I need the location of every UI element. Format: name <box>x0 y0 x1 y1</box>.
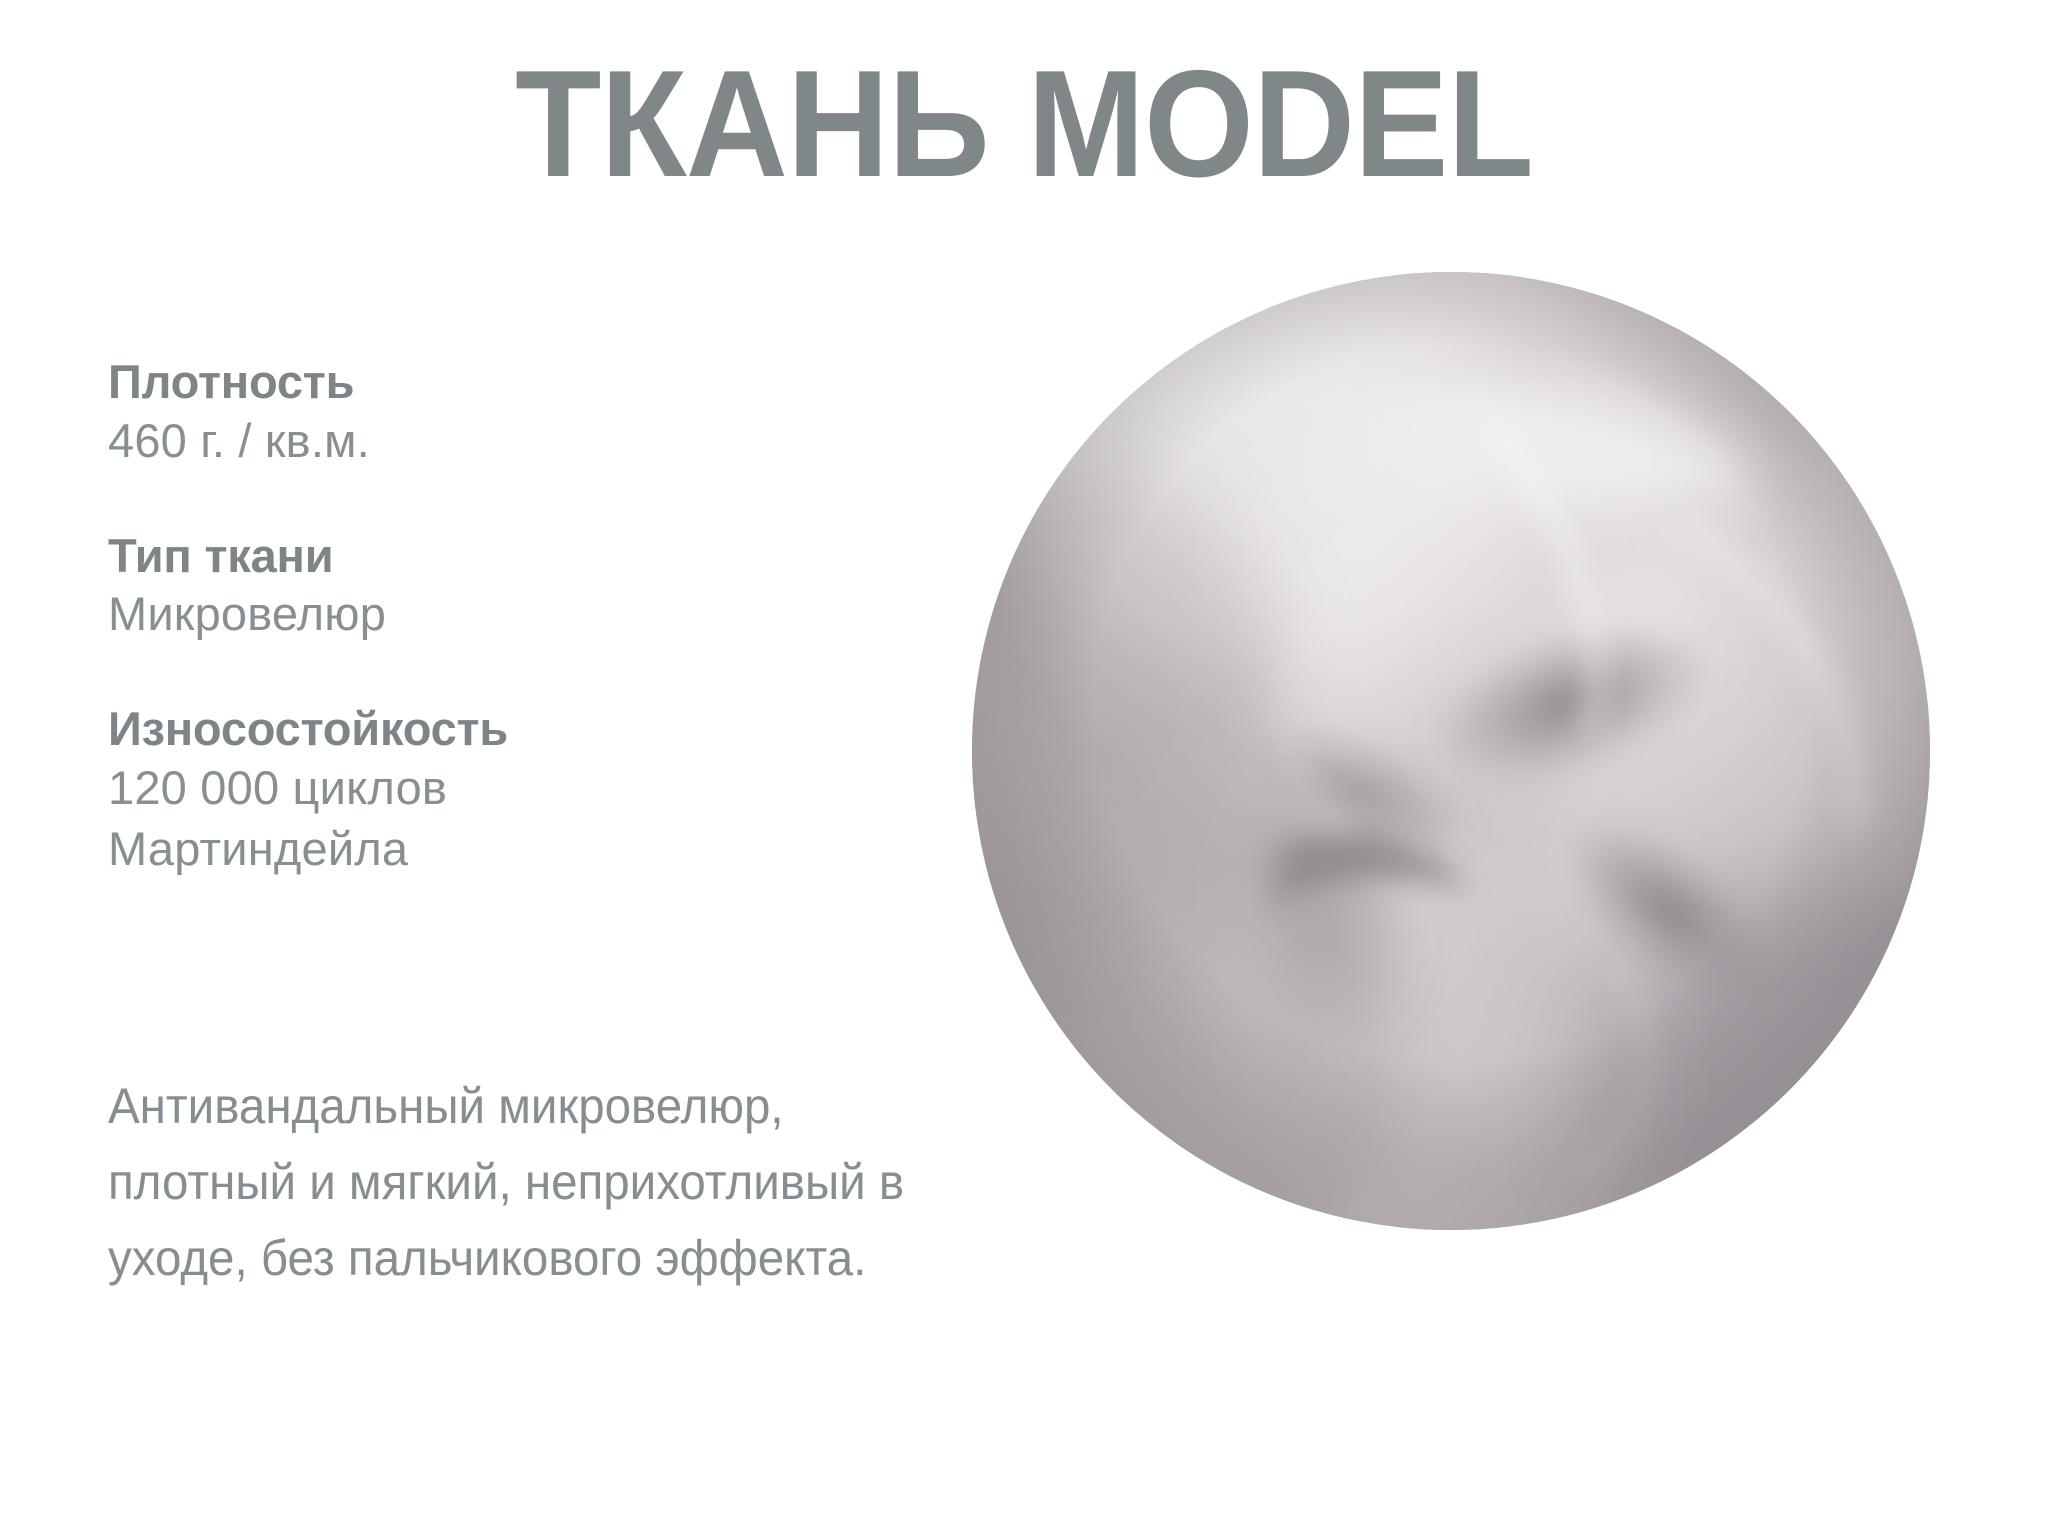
fabric-spec-slide: ТКАНЬ MODEL Плотность 460 г. / кв.м. Тип… <box>0 0 2048 1536</box>
spec-value-durability-line2: Мартиндейла <box>108 818 898 879</box>
fabric-description: Антивандальный микровелюр, плотный и мяг… <box>108 1068 963 1296</box>
specs-list: Плотность 460 г. / кв.м. Тип ткани Микро… <box>108 355 898 879</box>
spec-label-density: Плотность <box>108 355 898 410</box>
fabric-photo-illustration <box>972 272 1930 1230</box>
spec-item-fabric-type: Тип ткани Микровелюр <box>108 529 898 645</box>
spec-item-density: Плотность 460 г. / кв.м. <box>108 355 898 471</box>
spec-label-fabric-type: Тип ткани <box>108 529 898 584</box>
fabric-photo <box>972 272 1930 1230</box>
spec-label-durability: Износостойкость <box>108 702 898 757</box>
spec-value-durability-line1: 120 000 циклов <box>108 757 898 818</box>
spec-value-fabric-type: Микровелюр <box>108 583 898 644</box>
spec-item-durability: Износостойкость 120 000 циклов Мартиндей… <box>108 702 898 879</box>
spec-value-density: 460 г. / кв.м. <box>108 410 898 471</box>
page-title: ТКАНЬ MODEL <box>72 48 1977 200</box>
